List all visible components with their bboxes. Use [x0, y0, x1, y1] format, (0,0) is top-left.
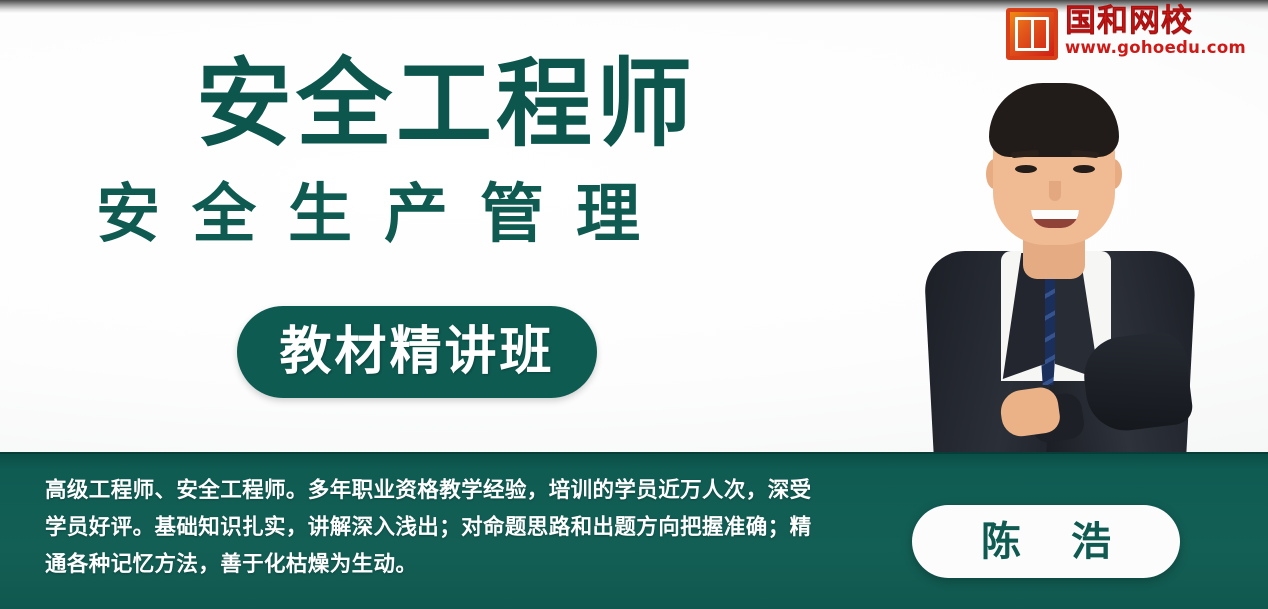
brand-name-cn: 国和网校	[1065, 6, 1193, 38]
brand-text: 国和网校 www.gohoedu.com	[1065, 6, 1246, 57]
page-subtitle: 安全生产管理	[96, 180, 672, 250]
brand-url: www.gohoedu.com	[1065, 39, 1246, 57]
course-banner: 国和网校 www.gohoedu.com 安全工程师 安全生产管理 教材精讲班	[0, 0, 1268, 609]
page-title: 安全工程师	[196, 53, 696, 157]
bio-line: 学员好评。基础知识扎实，讲解深入浅出；对命题思路和出题方向把握准确；精	[45, 509, 845, 546]
instructor-name-badge[interactable]: 陈 浩	[912, 505, 1180, 578]
hair	[989, 83, 1119, 157]
instructor-bio: 高级工程师、安全工程师。多年职业资格教学经验，培训的学员近万人次，深受 学员好评…	[45, 472, 845, 583]
bio-line: 高级工程师、安全工程师。多年职业资格教学经验，培训的学员近万人次，深受	[45, 472, 845, 509]
brand-logo[interactable]: 国和网校 www.gohoedu.com	[1006, 6, 1246, 60]
teeth	[1031, 210, 1079, 219]
course-type-label: 教材精讲班	[279, 326, 554, 378]
eye-right	[1073, 165, 1095, 173]
seal-square-icon	[1006, 8, 1058, 60]
instructor-name-label: 陈 浩	[963, 522, 1129, 562]
eye-left	[1015, 165, 1037, 173]
course-type-badge[interactable]: 教材精讲班	[237, 306, 597, 398]
nose	[1049, 181, 1061, 201]
bio-line: 通各种记忆方法，善于化枯燥为生动。	[45, 546, 845, 583]
